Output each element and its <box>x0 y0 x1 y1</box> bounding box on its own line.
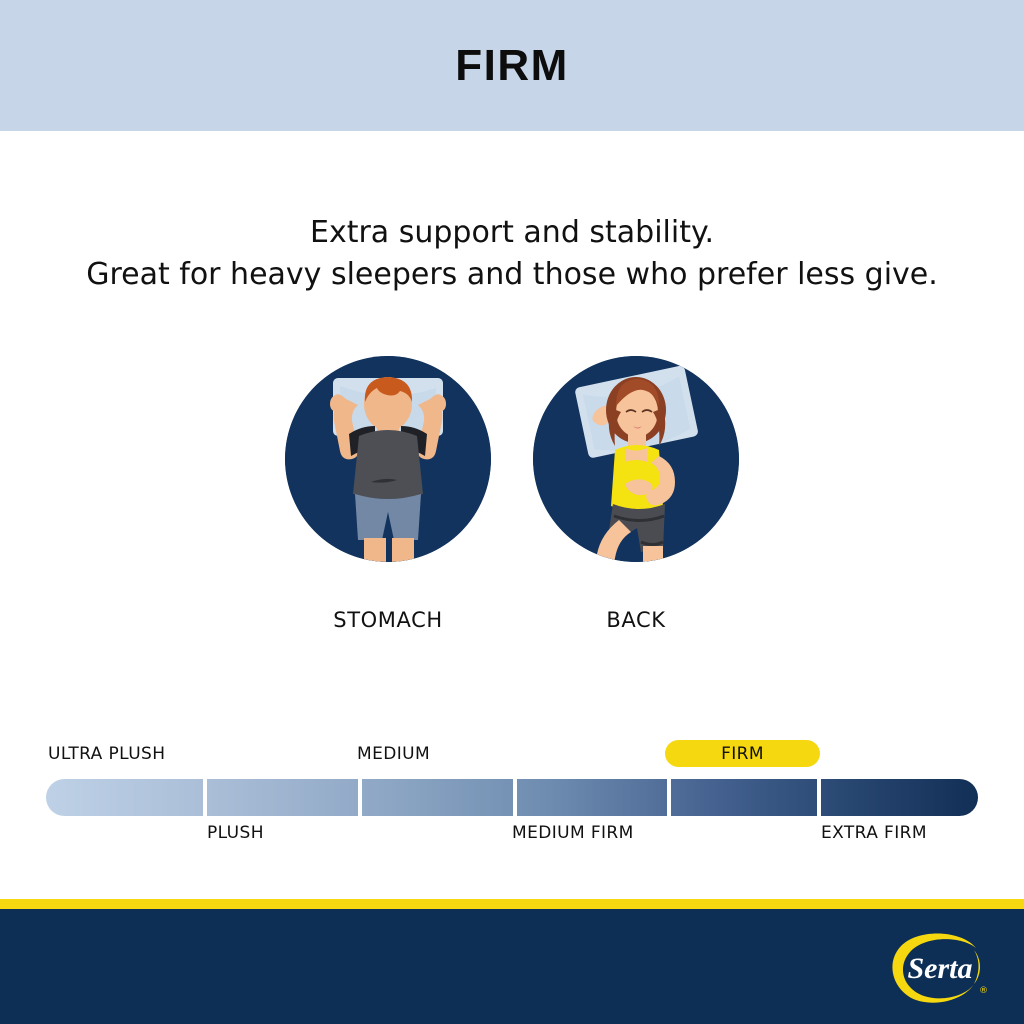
scale-segment-ultra-plush[interactable] <box>46 779 203 816</box>
firmness-scale: ULTRA PLUSH MEDIUM FIRM PLUSH MEDIUM FIR… <box>46 738 978 858</box>
trademark-symbol: ® <box>979 986 988 996</box>
position-card-back: BACK <box>533 356 739 632</box>
sleep-positions-group: STOMACH <box>0 356 1024 632</box>
position-label-back: BACK <box>606 608 665 632</box>
scale-label-ultra-plush[interactable]: ULTRA PLUSH <box>48 744 165 764</box>
scale-label-plush[interactable]: PLUSH <box>207 823 264 843</box>
scale-segment-medium[interactable] <box>362 779 513 816</box>
position-card-stomach: STOMACH <box>285 356 491 632</box>
scale-segment-medium-firm[interactable] <box>517 779 667 816</box>
serta-logo-mark: Serta <box>888 928 992 1008</box>
subtitle-description: Extra support and stability. Great for h… <box>0 212 1024 296</box>
scale-segment-extra-firm[interactable] <box>821 779 978 816</box>
stomach-sleeper-illustration <box>285 356 491 562</box>
position-label-stomach: STOMACH <box>333 608 442 632</box>
scale-label-medium-firm[interactable]: MEDIUM FIRM <box>512 823 634 843</box>
scale-segment-firm[interactable] <box>671 779 817 816</box>
serta-logo[interactable]: Serta ® <box>888 928 992 1008</box>
subtitle-line-2: Great for heavy sleepers and those who p… <box>0 254 1024 296</box>
scale-segment-plush[interactable] <box>207 779 358 816</box>
stomach-sleeper-circle <box>285 356 491 562</box>
firmness-infographic: FIRM Extra support and stability. Great … <box>0 0 1024 1024</box>
serta-logo-text: Serta <box>907 952 972 985</box>
footer-band: Serta ® <box>0 909 1024 1024</box>
scale-label-extra-firm[interactable]: EXTRA FIRM <box>821 823 927 843</box>
back-sleeper-circle <box>533 356 739 562</box>
page-title: FIRM <box>455 41 569 91</box>
scale-label-firm-selected[interactable]: FIRM <box>665 740 820 767</box>
subtitle-line-1: Extra support and stability. <box>0 212 1024 254</box>
header-band: FIRM <box>0 0 1024 131</box>
back-sleeper-illustration <box>533 356 739 562</box>
scale-label-medium[interactable]: MEDIUM <box>357 744 430 764</box>
firmness-scale-bar[interactable] <box>46 779 978 816</box>
footer-accent-stripe <box>0 899 1024 909</box>
